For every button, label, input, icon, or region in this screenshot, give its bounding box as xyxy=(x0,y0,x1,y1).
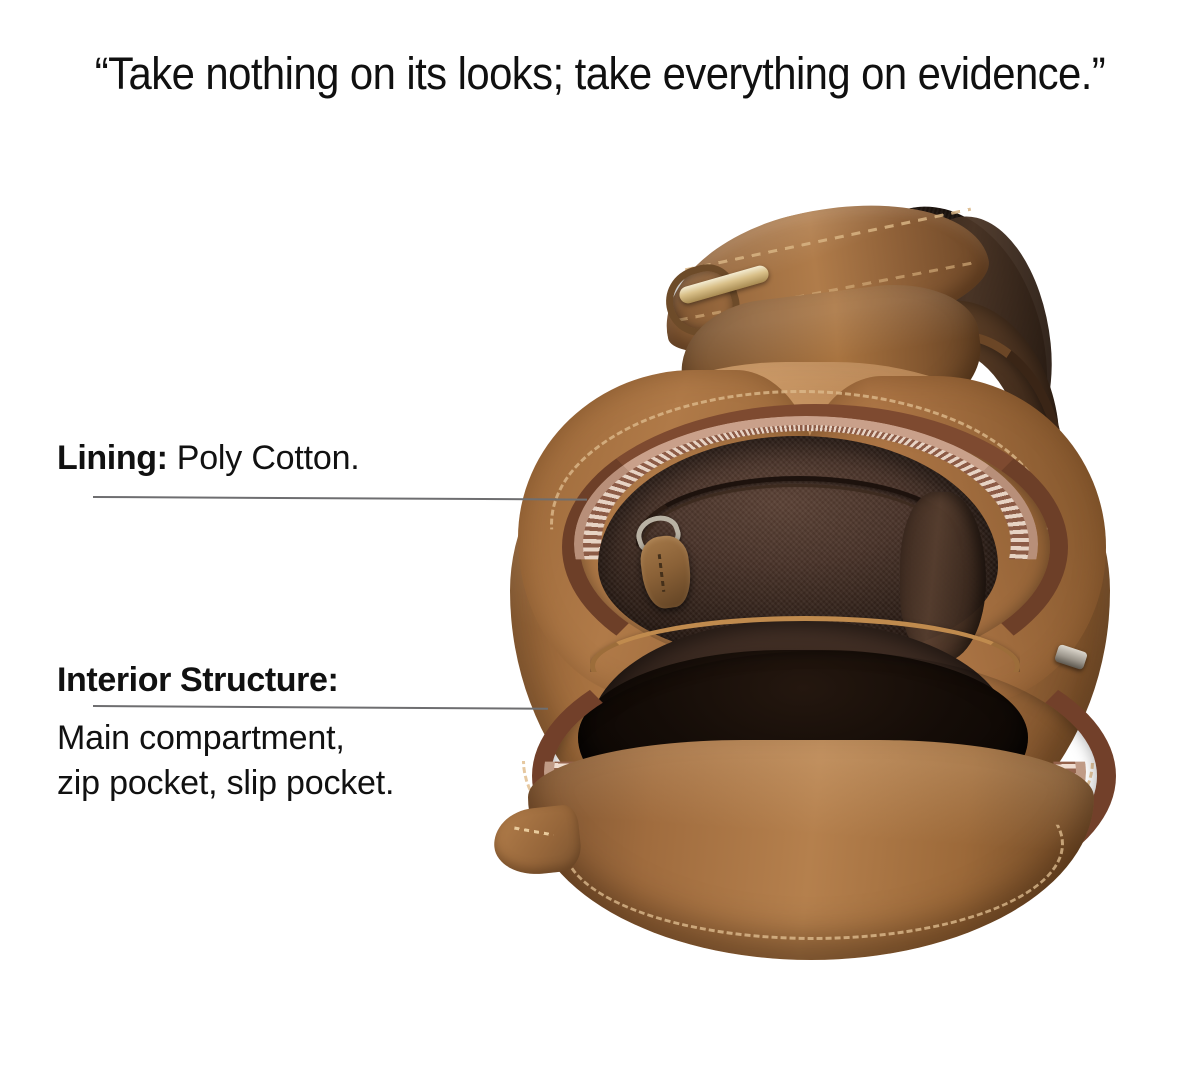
callout-interior-value-line-2: zip pocket, slip pocket. xyxy=(57,761,394,806)
headline-quote: “Take nothing on its looks; take everyth… xyxy=(42,46,1158,102)
infographic-page: “Take nothing on its looks; take everyth… xyxy=(0,0,1200,1068)
side-leather-tab xyxy=(491,804,583,879)
callout-lining: Lining: Poly Cotton. xyxy=(57,437,360,480)
callout-lining-value: Poly Cotton. xyxy=(168,439,360,477)
callout-interior-structure: Interior Structure: Main compartment, zi… xyxy=(57,659,394,806)
callout-lining-text: Lining: Poly Cotton. xyxy=(57,437,360,480)
callout-interior-label: Interior Structure: xyxy=(57,659,394,702)
product-photo-leather-sling-backpack xyxy=(470,180,1170,920)
callout-interior-value-line-1: Main compartment, xyxy=(57,716,394,761)
callout-lining-label: Lining: xyxy=(57,439,168,477)
